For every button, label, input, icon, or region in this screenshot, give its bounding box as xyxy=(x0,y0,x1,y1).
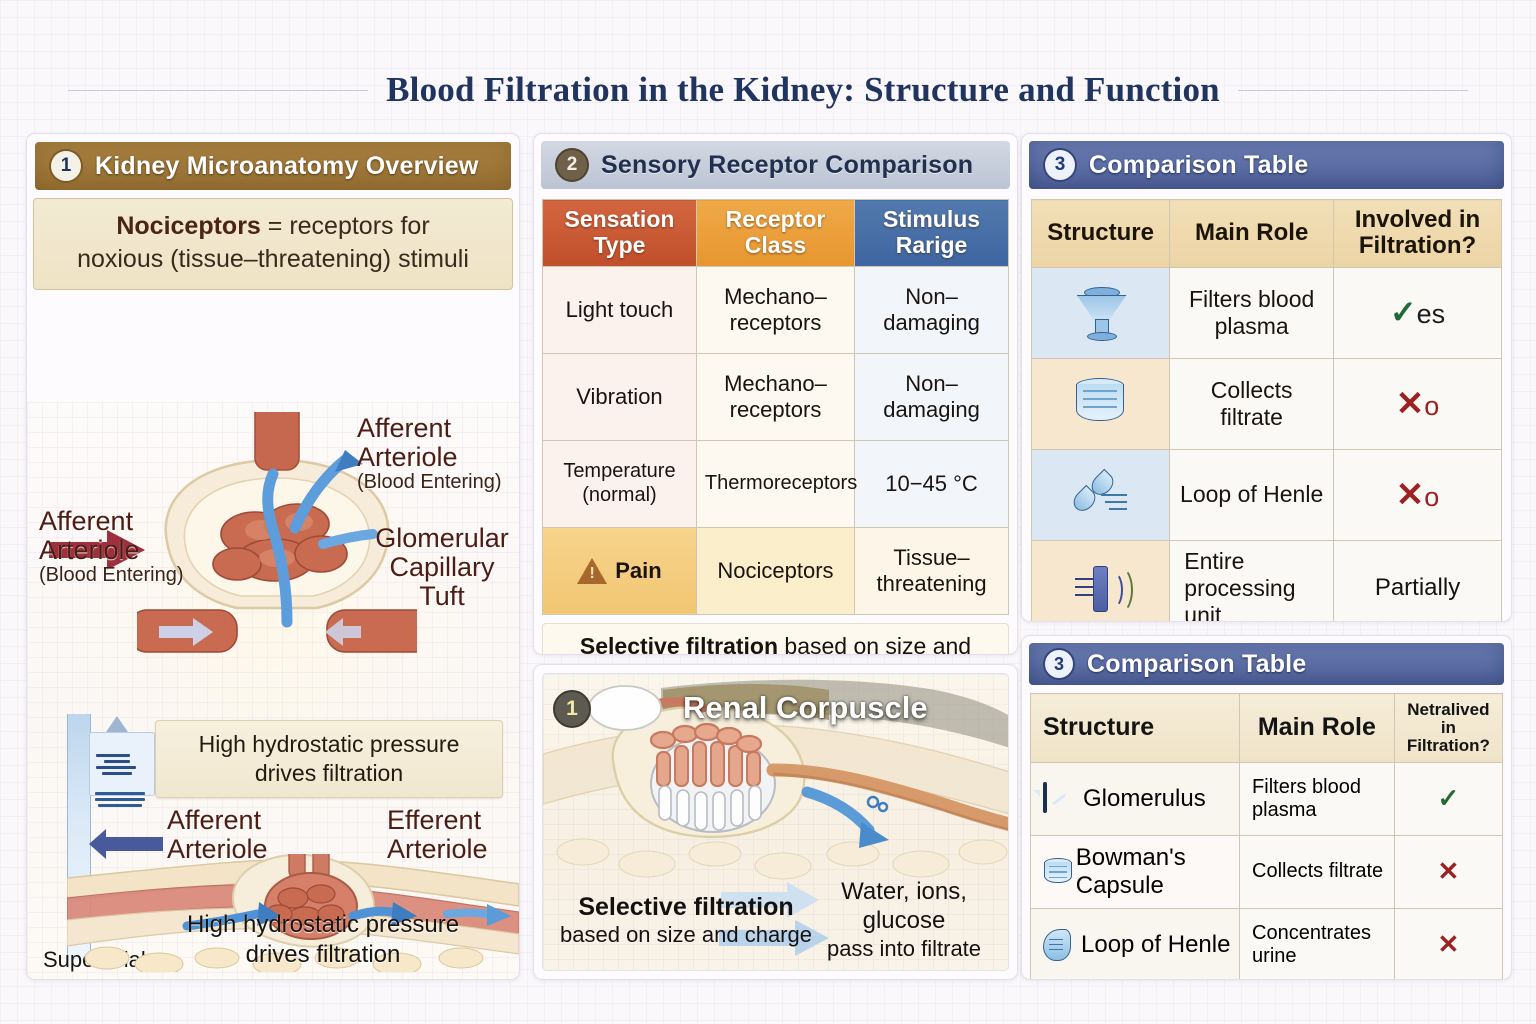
panel2b-number-badge: 1 xyxy=(553,690,591,728)
cell-receptor: Nociceptors xyxy=(696,527,854,614)
afferent-right-sub: (Blood Entering) xyxy=(357,472,502,493)
panel4-header-label: Comparison Table xyxy=(1087,650,1306,679)
hydrostatic-pressure-caption-box: High hydrostatic pressure drives filtrat… xyxy=(155,720,503,798)
role-line1: Filters blood xyxy=(1189,286,1314,312)
glomerular-line2: Capillary xyxy=(367,553,517,582)
structure-label: Glomerulus xyxy=(1083,785,1206,813)
comparison-table-wrap: Structure Main Role Involved in Filtrati… xyxy=(1031,199,1502,622)
water-ions-line3: pass into filtrate xyxy=(804,936,1004,962)
table-row: Entireprocessing unit Partially xyxy=(1032,540,1502,622)
panel-renal-corpuscle: 1 Renal Corpuscle Selective filtration b… xyxy=(533,664,1018,980)
comparison-table2-wrap: Structure Main Role Netralived in Filtra… xyxy=(1030,693,1503,980)
panel1-header-label: Kidney Microanatomy Overview xyxy=(95,152,479,181)
funnel-icon xyxy=(1075,285,1127,341)
cell-sensation: Temperature (normal) xyxy=(543,440,697,527)
afferent-left-line2: Arteriole xyxy=(39,536,184,565)
cell-main-role: Concentratesurine xyxy=(1240,908,1395,980)
panel2-number-badge: 2 xyxy=(555,148,589,182)
cmp-col-structure: Structure xyxy=(1032,200,1170,268)
nociceptor-definition-box: Nociceptors = receptors for noxious (tis… xyxy=(33,198,513,290)
water-ions-line2: glucose xyxy=(804,907,1004,936)
selective-filtration-bold: Selective filtration xyxy=(551,892,821,922)
cell-filtration-answer: ✓ xyxy=(1394,762,1502,835)
bottom-hydrostatic-caption: High hydrostatic pressure drives filtrat… xyxy=(153,910,493,969)
label-afferent-arteriole-right: Afferent Arteriole (Blood Entering) xyxy=(357,414,502,493)
table-row: Filters bloodplasma ✓es xyxy=(1032,267,1502,358)
cell-filtration-answer: ✕ xyxy=(1394,835,1502,908)
label-glomerular-capillary-tuft: Glomerular Capillary Tuft xyxy=(367,524,517,611)
check-icon: ✓ xyxy=(1390,294,1417,330)
role-line2: plasma xyxy=(1215,313,1289,339)
cell-sensation-label: Pain xyxy=(615,558,661,584)
table-row: Loop of Henle ✕o xyxy=(1032,449,1502,540)
cmp-col-role: Main Role xyxy=(1170,200,1334,268)
water-drops-icon xyxy=(1073,470,1129,520)
cell-sensation: Light touch xyxy=(543,266,697,353)
cell-filtration-answer: ✕o xyxy=(1334,449,1502,540)
panel-comparison-table-icons: 3 Comparison Table Structure Main Role I… xyxy=(1021,133,1512,622)
role-line1: Concentrates xyxy=(1252,922,1371,944)
panel2-header-label: Sensory Receptor Comparison xyxy=(601,151,973,180)
cell-filtration-answer: ✕ xyxy=(1394,908,1502,980)
page-title-bar: Blood Filtration in the Kidney: Structur… xyxy=(0,62,1536,118)
table-row: Bowman's Capsule Collects filtrate ✕ xyxy=(1031,835,1503,908)
caption-box-line2: drives filtration xyxy=(255,760,403,786)
signal-wave-icon xyxy=(1073,562,1129,614)
sensory-table-wrap: Sensation Type Receptor Class Stimulus R… xyxy=(542,199,1009,615)
table-row: Vibration Mechano–receptors Non–damaging xyxy=(543,353,1009,440)
table-row: Loop of Henle Concentratesurine ✕ xyxy=(1031,908,1503,980)
panel-kidney-microanatomy: 1 Kidney Microanatomy Overview Nocicepto… xyxy=(26,133,520,980)
footer-bold-text: Selective filtration xyxy=(580,633,778,656)
definition-line2: noxious (tissue–threatening) stimuli xyxy=(77,245,469,273)
cmp2-col-role: Main Role xyxy=(1240,694,1395,763)
water-ions-line1: Water, ions, xyxy=(804,878,1004,907)
comparison-table: Structure Main Role Involved in Filtrati… xyxy=(1031,199,1502,622)
cell-structure-icon xyxy=(1032,449,1170,540)
panel-comparison-table-labelled: 3 Comparison Table Structure Main Role N… xyxy=(1021,635,1512,980)
cross-icon: ✕ xyxy=(1396,476,1425,514)
cmp-col-filtration: Involved in Filtration? xyxy=(1334,200,1502,268)
panel4-header: 3 Comparison Table xyxy=(1029,643,1504,685)
afferent-flow-arrow-icon xyxy=(105,837,163,851)
definition-rest: = receptors for xyxy=(261,212,430,240)
caption-box-line1: High hydrostatic pressure xyxy=(199,731,460,757)
structure-label: Bowman's Capsule xyxy=(1076,844,1231,900)
cell-main-role: Collectsfiltrate xyxy=(1170,358,1334,449)
sensory-col-receptor: Receptor Class xyxy=(696,200,854,267)
title-rule-right xyxy=(1238,90,1468,91)
panel1-header: 1 Kidney Microanatomy Overview xyxy=(35,142,511,190)
afferent-lower-line1: Afferent xyxy=(167,806,268,835)
definition-term: Nociceptors xyxy=(116,212,260,240)
depth-arrow-up-icon xyxy=(106,716,128,732)
structure-label: Loop of Henle xyxy=(1081,931,1230,959)
cell-structure-icon xyxy=(1032,358,1170,449)
cell-structure-icon xyxy=(1032,267,1170,358)
afferent-right-line2: Arteriole xyxy=(357,443,502,472)
table-row: Glomerulus Filters bloodplasma ✓ xyxy=(1031,762,1503,835)
cell-sensation-pain: Pain xyxy=(543,527,697,614)
cmp2-col-filtration: Netralived in Filtration? xyxy=(1394,694,1502,763)
table-row: Pain Nociceptors Tissue–threatening xyxy=(543,527,1009,614)
sensory-table: Sensation Type Receptor Class Stimulus R… xyxy=(542,199,1009,615)
sensory-col-stimulus: Stimulus Rarige xyxy=(855,200,1009,267)
panel3-number-badge: 3 xyxy=(1043,148,1077,182)
table-row: Temperature (normal) Thermoreceptors 10−… xyxy=(543,440,1009,527)
label-afferent-arteriole-left: Afferent Arteriole (Blood Entering) xyxy=(39,507,184,586)
warning-triangle-icon xyxy=(577,558,607,584)
answer-text: o xyxy=(1424,391,1439,421)
panel-sensory-receptor-comparison: 2 Sensory Receptor Comparison Sensation … xyxy=(533,133,1018,655)
cell-main-role: Filters bloodplasma xyxy=(1170,267,1334,358)
cell-receptor: Mechano–receptors xyxy=(696,353,854,440)
loop-of-henle-icon xyxy=(1043,929,1071,961)
panel1-number-badge: 1 xyxy=(49,149,83,183)
cell-filtration-answer: Partially xyxy=(1334,540,1502,622)
sensory-table-header-row: Sensation Type Receptor Class Stimulus R… xyxy=(543,200,1009,267)
title-rule-left xyxy=(68,90,368,91)
cell-sensation: Vibration xyxy=(543,353,697,440)
glomerulus-icon xyxy=(1043,784,1073,814)
glomerular-line3: Tuft xyxy=(367,582,517,611)
renal-corpuscle-heading: 1 xyxy=(553,690,591,728)
comparison-table2: Structure Main Role Netralived in Filtra… xyxy=(1030,693,1503,980)
afferent-right-line1: Afferent xyxy=(357,414,502,443)
answer-text: es xyxy=(1417,299,1446,329)
role-line2: plasma xyxy=(1252,799,1316,821)
comparison-header-row: Structure Main Role Involved in Filtrati… xyxy=(1032,200,1502,268)
panel3-header: 3 Comparison Table xyxy=(1029,141,1504,189)
cell-main-role: Filters bloodplasma xyxy=(1240,762,1395,835)
cell-filtration-answer: ✕o xyxy=(1334,358,1502,449)
cmp2-col-structure: Structure xyxy=(1031,694,1240,763)
role-line1: Entire xyxy=(1184,548,1244,574)
cell-stimulus: Non–damaging xyxy=(855,353,1009,440)
panel3-header-label: Comparison Table xyxy=(1089,151,1308,180)
cell-structure: Loop of Henle xyxy=(1031,908,1240,980)
table-row: Light touch Mechano–receptors Non–damagi… xyxy=(543,266,1009,353)
role-line2: filtrate xyxy=(1220,404,1283,430)
cell-main-role: Entireprocessing unit xyxy=(1170,540,1334,622)
bottom-caption-line2: drives filtration xyxy=(246,941,401,968)
cell-stimulus: 10−45 °C xyxy=(855,440,1009,527)
cell-stimulus: Tissue–threatening xyxy=(855,527,1009,614)
panel4-number-badge: 3 xyxy=(1043,648,1075,680)
role-line2: processing unit xyxy=(1184,575,1295,622)
afferent-left-line1: Afferent xyxy=(39,507,184,536)
panel1-illustration: Afferent Arteriole (Blood Entering) Affe… xyxy=(27,402,519,979)
answer-text: o xyxy=(1424,482,1439,512)
afferent-left-sub: (Blood Entering) xyxy=(39,565,184,586)
page-title: Blood Filtration in the Kidney: Structur… xyxy=(386,70,1220,110)
cell-main-role: Collects filtrate xyxy=(1240,835,1395,908)
bowmans-capsule-icon xyxy=(1043,858,1066,886)
role-line2: urine xyxy=(1252,945,1296,967)
efferent-lower-line1: Efferent xyxy=(387,806,488,835)
panel2-header: 2 Sensory Receptor Comparison xyxy=(541,141,1010,189)
cell-main-role: Loop of Henle xyxy=(1170,449,1334,540)
role-line1: Filters blood xyxy=(1252,776,1361,798)
decorative-glyph-chip xyxy=(89,732,155,796)
cell-stimulus: Non–damaging xyxy=(855,266,1009,353)
comparison2-header-row: Structure Main Role Netralived in Filtra… xyxy=(1031,694,1503,763)
cell-receptor: Mechano–receptors xyxy=(696,266,854,353)
selective-filtration-rest: based on size and charge xyxy=(551,922,821,948)
cell-structure: Bowman's Capsule xyxy=(1031,835,1240,908)
cell-structure-icon xyxy=(1032,540,1170,622)
renal-corpuscle-title: Renal Corpuscle xyxy=(683,690,928,726)
cross-icon: ✕ xyxy=(1396,385,1425,423)
glomerular-line1: Glomerular xyxy=(367,524,517,553)
selective-filtration-caption: Selective filtration based on size and c… xyxy=(551,892,821,948)
bottom-caption-line1: High hydrostatic pressure xyxy=(187,911,459,938)
cell-structure: Glomerulus xyxy=(1031,762,1240,835)
cell-receptor: Thermoreceptors xyxy=(696,440,854,527)
beaker-cylinder-icon xyxy=(1076,378,1126,430)
water-ions-glucose-caption: Water, ions, glucose pass into filtrate xyxy=(804,878,1004,962)
sensory-table-footer: Selective filtration based on size and c… xyxy=(542,623,1009,656)
stacked-lines-icon xyxy=(95,792,145,807)
role-line1: Collects xyxy=(1211,377,1293,403)
table-row: Collectsfiltrate ✕o xyxy=(1032,358,1502,449)
sensory-col-sensation: Sensation Type xyxy=(543,200,697,267)
cell-filtration-answer: ✓es xyxy=(1334,267,1502,358)
renal-corpuscle-illustration: 1 Renal Corpuscle Selective filtration b… xyxy=(542,673,1009,971)
